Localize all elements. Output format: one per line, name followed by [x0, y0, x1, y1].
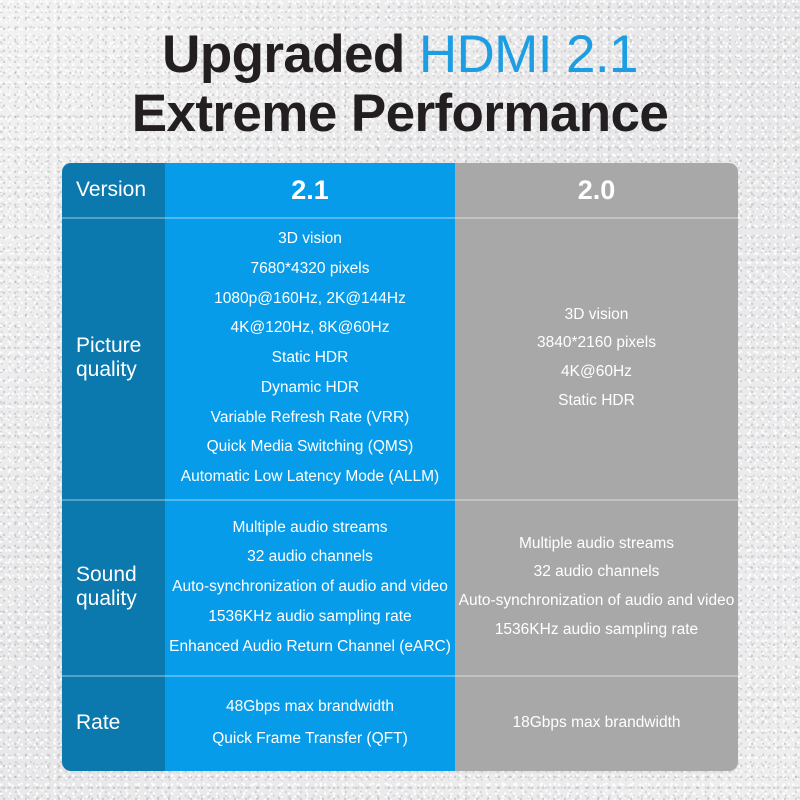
- hdmi-comparison-table: Version 2.1 2.0 Picture quality 3D visio…: [62, 163, 738, 771]
- header-value-old-version: 2.0: [578, 175, 616, 206]
- table-row-picture-quality: Picture quality 3D vision7680*4320 pixel…: [62, 217, 738, 499]
- cell-rate-2-1: 48Gbps max brandwidthQuick Frame Transfe…: [165, 675, 455, 771]
- spec-item: 3840*2160 pixels: [455, 329, 738, 358]
- row-label-sound-quality: Sound quality: [76, 563, 137, 610]
- spec-item: 3D vision: [455, 301, 738, 330]
- title-line-2: Extreme Performance: [0, 85, 800, 142]
- spec-list-rate-old: 18Gbps max brandwidth: [447, 707, 738, 739]
- title-hdmi-version-text: HDMI 2.1: [419, 25, 638, 84]
- cell-sound-quality-2-0: Multiple audio streams32 audio channelsA…: [455, 499, 738, 675]
- spec-list-sound-quality-new: Multiple audio streams32 audio channelsA…: [157, 513, 463, 662]
- spec-list-picture-quality-new: 3D vision7680*4320 pixels1080p@160Hz, 2K…: [157, 224, 463, 492]
- cell-rate-2-0: 18Gbps max brandwidth: [455, 675, 738, 771]
- spec-item: 18Gbps max brandwidth: [455, 707, 738, 739]
- spec-item: 32 audio channels: [455, 558, 738, 587]
- spec-item: 1536KHz audio sampling rate: [165, 602, 455, 632]
- row-label-cell-sound-quality: Sound quality: [62, 499, 165, 675]
- spec-item: Multiple audio streams: [165, 513, 455, 543]
- header-value-new-version: 2.1: [291, 175, 329, 206]
- spec-item: Dynamic HDR: [165, 373, 455, 403]
- row-label-rate: Rate: [76, 711, 120, 735]
- row-label-picture-quality: Picture quality: [76, 334, 141, 381]
- cell-picture-quality-2-0: 3D vision3840*2160 pixels4K@60HzStatic H…: [455, 217, 738, 499]
- table-row-sound-quality: Sound quality Multiple audio streams32 a…: [62, 499, 738, 675]
- title-line-1: Upgraded HDMI 2.1: [0, 26, 800, 83]
- title-upgraded-text: Upgraded: [162, 25, 419, 84]
- spec-item: 4K@120Hz, 8K@60Hz: [165, 313, 455, 343]
- spec-item: 3D vision: [165, 224, 455, 254]
- spec-item: Enhanced Audio Return Channel (eARC): [165, 632, 455, 662]
- spec-item: Static HDR: [165, 343, 455, 373]
- spec-item: 7680*4320 pixels: [165, 254, 455, 284]
- spec-item: 48Gbps max brandwidth: [165, 691, 455, 723]
- spec-item: Auto-synchronization of audio and video: [455, 587, 738, 616]
- header-cell-2-0: 2.0: [455, 163, 738, 217]
- row-label-cell-picture-quality: Picture quality: [62, 217, 165, 499]
- spec-item: Quick Media Switching (QMS): [165, 432, 455, 462]
- spec-list-picture-quality-old: 3D vision3840*2160 pixels4K@60HzStatic H…: [447, 301, 738, 416]
- cell-sound-quality-2-1: Multiple audio streams32 audio channelsA…: [165, 499, 455, 675]
- header-cell-2-1: 2.1: [165, 163, 455, 217]
- table-header-row: Version 2.1 2.0: [62, 163, 738, 217]
- spec-item: 32 audio channels: [165, 542, 455, 572]
- spec-item: 1080p@160Hz, 2K@144Hz: [165, 284, 455, 314]
- spec-item: Quick Frame Transfer (QFT): [165, 723, 455, 755]
- spec-item: Static HDR: [455, 387, 738, 416]
- cell-picture-quality-2-1: 3D vision7680*4320 pixels1080p@160Hz, 2K…: [165, 217, 455, 499]
- spec-item: 1536KHz audio sampling rate: [455, 616, 738, 645]
- page-title: Upgraded HDMI 2.1 Extreme Performance: [0, 26, 800, 142]
- spec-item: Variable Refresh Rate (VRR): [165, 403, 455, 433]
- spec-item: Automatic Low Latency Mode (ALLM): [165, 462, 455, 492]
- spec-item: 4K@60Hz: [455, 358, 738, 387]
- spec-list-rate-new: 48Gbps max brandwidthQuick Frame Transfe…: [157, 691, 463, 755]
- page-root: Upgraded HDMI 2.1 Extreme Performance Ve…: [0, 0, 800, 800]
- header-cell-version: Version: [62, 163, 165, 217]
- table-row-rate: Rate 48Gbps max brandwidthQuick Frame Tr…: [62, 675, 738, 771]
- spec-list-sound-quality-old: Multiple audio streams32 audio channelsA…: [447, 530, 738, 645]
- header-label-version: Version: [76, 178, 146, 202]
- spec-item: Multiple audio streams: [455, 530, 738, 559]
- spec-item: Auto-synchronization of audio and video: [165, 572, 455, 602]
- row-label-cell-rate: Rate: [62, 675, 165, 771]
